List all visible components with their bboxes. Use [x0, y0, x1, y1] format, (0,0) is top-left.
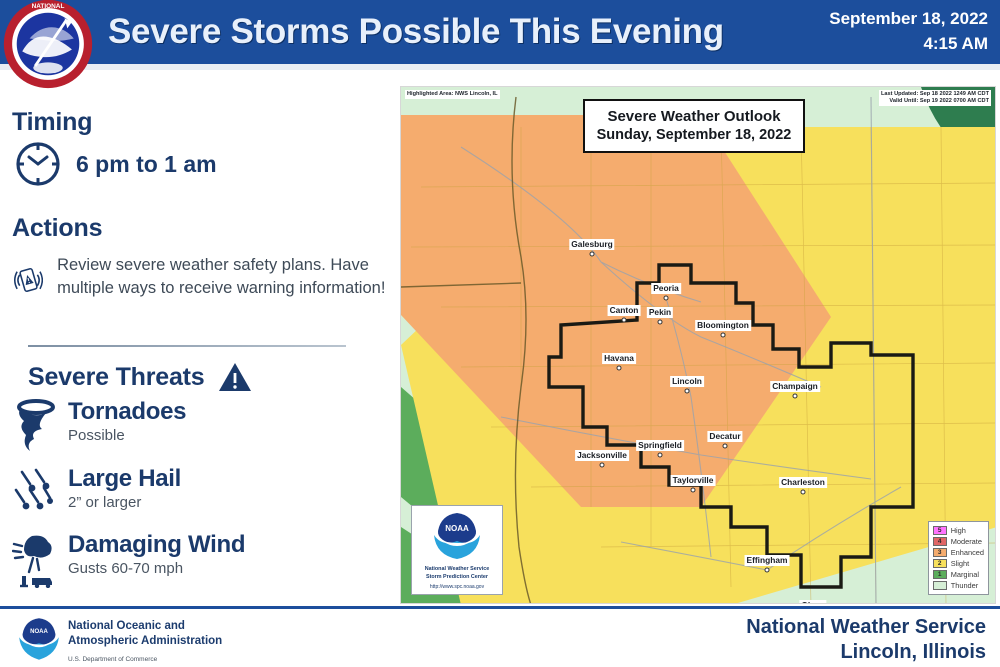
- sidebar: Timing 6 pm to 1 am Actions Revie: [0, 74, 392, 604]
- city-label: Charleston: [779, 477, 827, 488]
- city-dot: [658, 320, 663, 325]
- footer-department: U.S. Department of Commerce: [68, 652, 222, 667]
- threat-title: Damaging Wind: [68, 531, 245, 558]
- national-weather-service-seal-icon: NATIONAL: [2, 0, 94, 90]
- city-label: Peoria: [651, 283, 681, 294]
- city-label: Champaign: [770, 381, 820, 392]
- city-label: Canton: [608, 305, 641, 316]
- threat-large-hail: Large Hail 2” or larger: [12, 466, 181, 525]
- footer-office-line2: Lincoln, Illinois: [746, 640, 986, 665]
- damaging-wind-icon: [12, 532, 58, 593]
- last-updated-text: Last Updated: Sep 18 2022 1249 AM CDT: [881, 91, 989, 98]
- city-label: Havana: [602, 353, 636, 364]
- page-title: Severe Storms Possible This Evening: [108, 4, 798, 60]
- legend-label: Moderate: [951, 537, 982, 546]
- legend-row: 3Enhanced: [933, 547, 984, 558]
- section-divider: [28, 345, 346, 347]
- city-label: Olney: [799, 600, 826, 604]
- city-dot: [590, 252, 595, 257]
- city-label: Jacksonville: [575, 450, 629, 461]
- warning-triangle-icon: [218, 362, 252, 392]
- actions-row: Review severe weather safety plans. Have…: [14, 250, 392, 310]
- legend-swatch: 5: [933, 526, 947, 535]
- spc-line2: Storm Prediction Center: [415, 574, 499, 582]
- city-dot: [600, 463, 605, 468]
- threat-detail: 2” or larger: [68, 493, 181, 513]
- city-label: Lincoln: [670, 376, 704, 387]
- legend-swatch: 1: [933, 570, 947, 579]
- legend-swatch: 2: [933, 559, 947, 568]
- city-label: Pekin: [647, 307, 673, 318]
- legend-row: 5High: [933, 525, 984, 536]
- header-underline: [0, 64, 1000, 70]
- severe-threats-heading: Severe Threats: [28, 363, 204, 392]
- spc-url[interactable]: http://www.spc.noaa.gov: [415, 584, 499, 590]
- highlighted-area-tag: Highlighted Area: NWS Lincoln, IL: [405, 90, 500, 99]
- city-dot: [793, 394, 798, 399]
- legend-label: Marginal: [951, 570, 979, 579]
- spc-attribution-box: NOAA National Weather Service Storm Pred…: [411, 505, 503, 595]
- header-time: 4:15 AM: [788, 31, 988, 56]
- noaa-logo-icon: NOAA: [14, 615, 64, 663]
- city-label: Galesburg: [569, 239, 614, 250]
- svg-text:NOAA: NOAA: [30, 629, 48, 635]
- footer-office: National Weather Service Lincoln, Illino…: [746, 615, 986, 665]
- city-label: Bloomington: [695, 320, 751, 331]
- hail-icon: [12, 466, 58, 525]
- outlook-title-line2: Sunday, September 18, 2022: [593, 126, 795, 145]
- city-dot: [664, 296, 669, 301]
- city-dot: [617, 366, 622, 371]
- legend-row: Thunder: [933, 580, 984, 591]
- city-dot: [691, 488, 696, 493]
- city-dot: [658, 453, 663, 458]
- footer-org-line2: Atmospheric Administration: [68, 634, 222, 649]
- timing-heading: Timing: [12, 108, 92, 137]
- clock-icon: [14, 140, 62, 188]
- legend-label: Enhanced: [951, 548, 984, 557]
- tornado-icon: [12, 399, 58, 460]
- header-date: September 18, 2022: [788, 6, 988, 31]
- city-dot: [801, 490, 806, 495]
- city-dot: [723, 444, 728, 449]
- threat-title: Tornadoes: [68, 398, 186, 425]
- mobile-alert-icon: [14, 250, 43, 310]
- noaa-logo-icon: NOAA: [428, 511, 486, 561]
- legend-label: High: [951, 526, 966, 535]
- timing-value: 6 pm to 1 am: [76, 151, 217, 178]
- actions-text: Review severe weather safety plans. Have…: [57, 250, 392, 300]
- severe-threats-heading-row: Severe Threats: [28, 362, 252, 392]
- valid-until-text: Valid Until: Sep 19 2022 0700 AM CDT: [881, 98, 989, 105]
- legend-row: 2Slight: [933, 558, 984, 569]
- outlook-title-box: Severe Weather Outlook Sunday, September…: [583, 99, 805, 153]
- outlook-title-line1: Severe Weather Outlook: [593, 107, 795, 126]
- threat-tornadoes: Tornadoes Possible: [12, 399, 186, 460]
- page-header: NATIONAL Severe Storms Possible This Eve…: [0, 0, 1000, 64]
- city-dot: [622, 318, 627, 323]
- legend-label: Thunder: [951, 581, 979, 590]
- svg-text:NATIONAL: NATIONAL: [32, 3, 65, 10]
- legend-swatch: 4: [933, 537, 947, 546]
- city-dot: [721, 333, 726, 338]
- city-label: Effingham: [745, 555, 790, 566]
- timing-row: 6 pm to 1 am: [14, 140, 217, 188]
- threat-detail: Possible: [68, 426, 186, 446]
- legend-swatch: 3: [933, 548, 947, 557]
- map-timestamp-tag: Last Updated: Sep 18 2022 1249 AM CDT Va…: [879, 90, 991, 106]
- threat-damaging-wind: Damaging Wind Gusts 60-70 mph: [12, 532, 245, 593]
- legend-row: 4Moderate: [933, 536, 984, 547]
- outlook-risk-legend: 5High4Moderate3Enhanced2Slight1MarginalT…: [928, 521, 989, 595]
- legend-row: 1Marginal: [933, 569, 984, 580]
- legend-swatch: [933, 581, 947, 590]
- city-label: Springfield: [636, 440, 684, 451]
- footer-office-line1: National Weather Service: [746, 615, 986, 640]
- city-label: Decatur: [707, 431, 742, 442]
- footer-org-line1: National Oceanic and: [68, 619, 222, 634]
- city-label: Taylorville: [671, 475, 716, 486]
- legend-label: Slight: [951, 559, 970, 568]
- city-dot: [685, 389, 690, 394]
- page-footer: NOAA National Oceanic and Atmospheric Ad…: [0, 609, 1000, 667]
- header-datetime: September 18, 2022 4:15 AM: [788, 6, 988, 56]
- city-dot: [765, 568, 770, 573]
- spc-line1: National Weather Service: [415, 566, 499, 574]
- footer-organization: National Oceanic and Atmospheric Adminis…: [68, 619, 222, 667]
- threat-detail: Gusts 60-70 mph: [68, 559, 245, 579]
- severe-weather-outlook-map[interactable]: Highlighted Area: NWS Lincoln, IL Last U…: [400, 86, 996, 604]
- actions-heading: Actions: [12, 214, 102, 243]
- threat-title: Large Hail: [68, 465, 181, 492]
- svg-text:NOAA: NOAA: [445, 524, 469, 533]
